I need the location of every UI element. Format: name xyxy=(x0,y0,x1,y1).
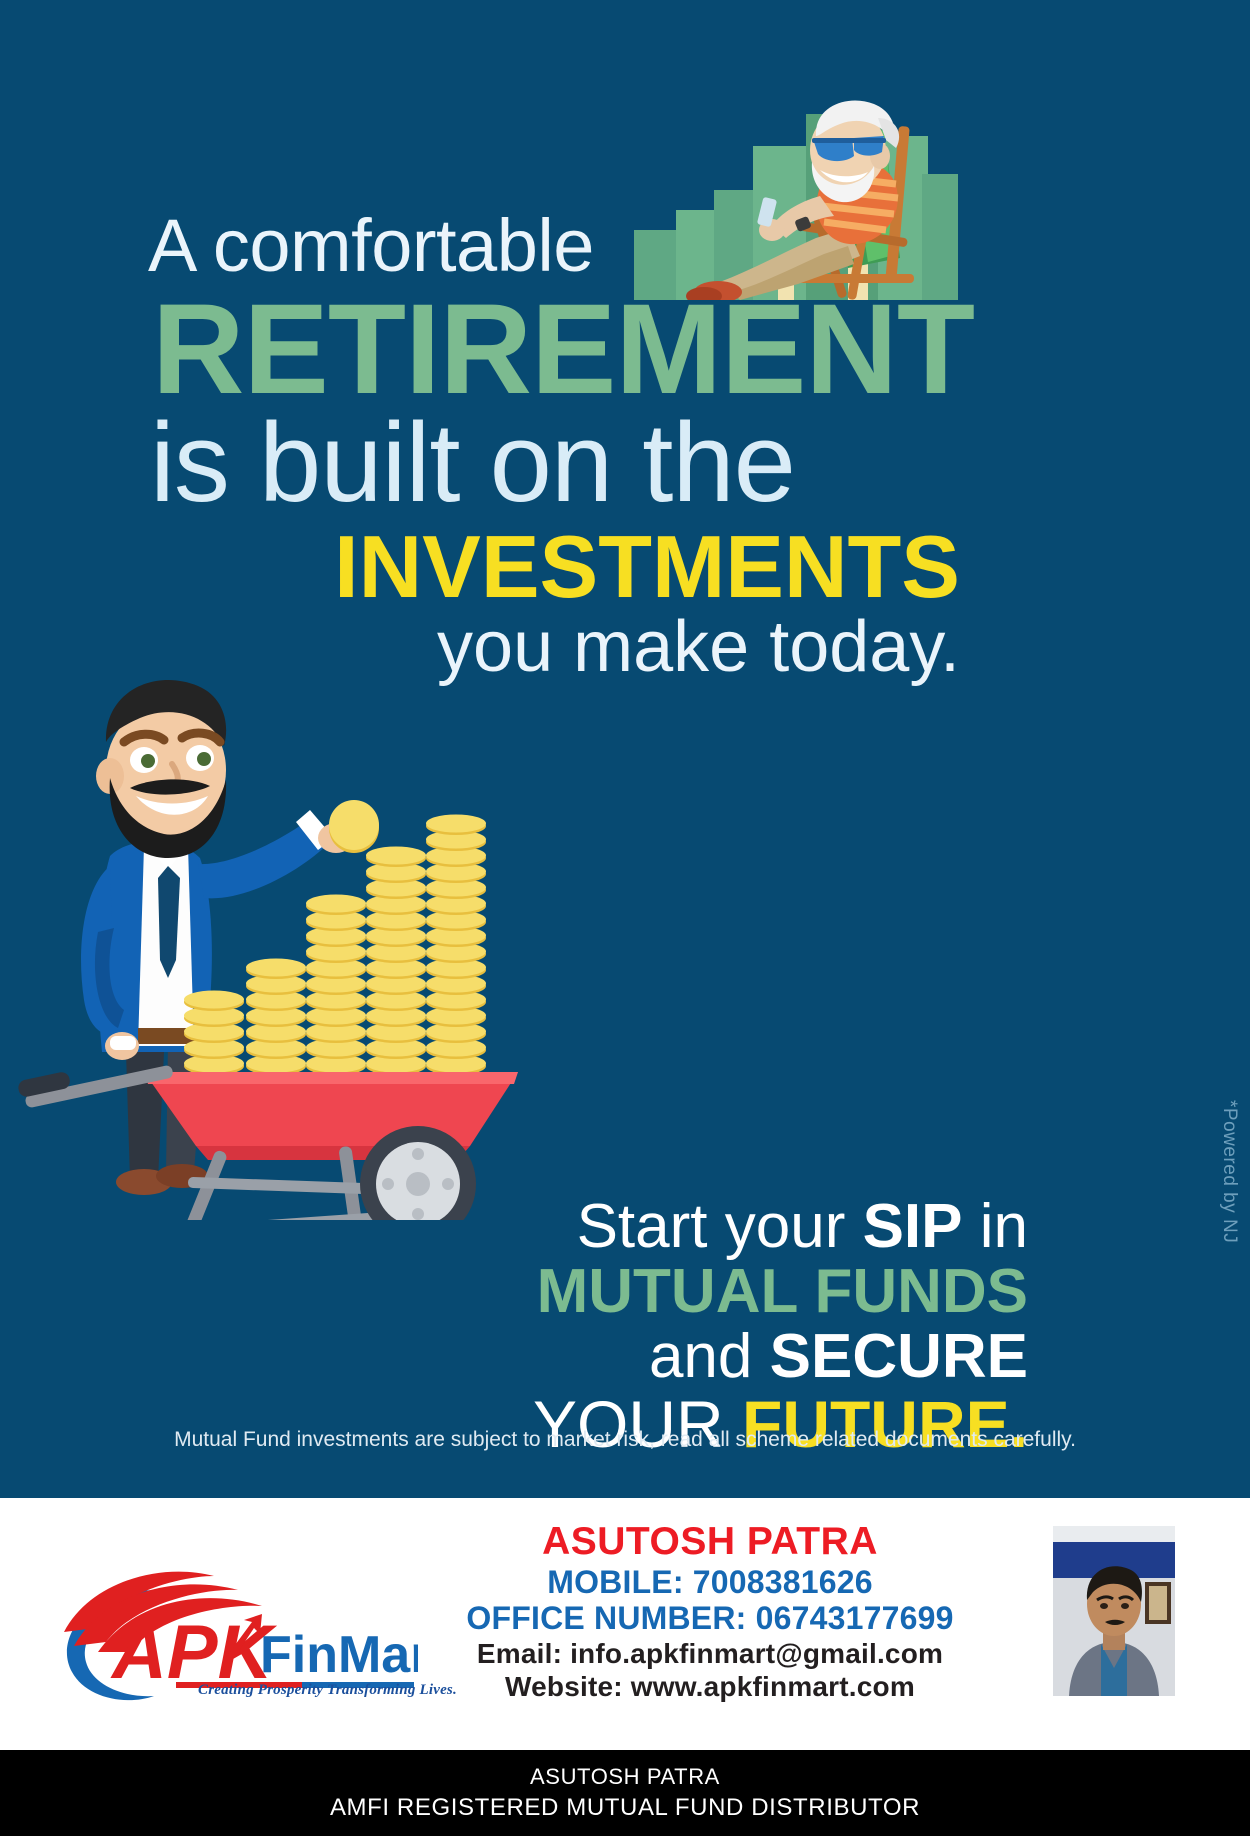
cta-line-1-pre: Start your xyxy=(577,1192,863,1261)
cta-line-1: Start your SIP in xyxy=(388,1195,1028,1258)
cta-line-1-post: in xyxy=(963,1192,1028,1261)
bottom-bar-designation: AMFI REGISTERED MUTUAL FUND DISTRIBUTOR xyxy=(330,1792,920,1824)
advisor-name: ASUTOSH PATRA xyxy=(400,1520,1020,1564)
headline-line-2: RETIREMENT xyxy=(0,287,1250,412)
cta-sip-label: SIP xyxy=(863,1192,963,1261)
cta-line-2: MUTUAL FUNDS xyxy=(388,1260,1028,1323)
contact-footer: APK FinMart Creating Prosperity Transfor… xyxy=(0,1498,1250,1750)
email-address[interactable]: Email: info.apkfinmart@gmail.com xyxy=(400,1637,1020,1670)
headline-line-1: A comfortable xyxy=(0,210,1250,283)
office-number[interactable]: OFFICE NUMBER: 06743177699 xyxy=(400,1600,1020,1636)
mobile-number[interactable]: MOBILE: 7008381626 xyxy=(400,1564,1020,1600)
bottom-bar-name: ASUTOSH PATRA xyxy=(530,1762,720,1792)
headline-block: A comfortable RETIREMENT is built on the… xyxy=(0,210,1250,682)
cta-block: Start your SIP in MUTUAL FUNDS and SECUR… xyxy=(388,1195,1028,1458)
cta-secure-label: SECURE xyxy=(770,1322,1028,1391)
advisor-photo xyxy=(1053,1526,1175,1696)
businessman-head xyxy=(96,680,226,858)
contact-details: ASUTOSH PATRA MOBILE: 7008381626 OFFICE … xyxy=(400,1520,1020,1703)
poster: A comfortable RETIREMENT is built on the… xyxy=(0,0,1250,1836)
headline-line-4: INVESTMENTS xyxy=(0,524,1250,610)
cta-line-3: and SECURE xyxy=(388,1325,1028,1388)
powered-by-label: *Powered by NJ xyxy=(1218,1100,1240,1243)
website-url[interactable]: Website: www.apkfinmart.com xyxy=(400,1670,1020,1703)
logo-finmart-text: FinMart xyxy=(260,1626,418,1684)
cta-line-3-pre: and xyxy=(649,1322,770,1391)
coin-stacks xyxy=(184,815,486,1076)
disclaimer-text: Mutual Fund investments are subject to m… xyxy=(0,1428,1250,1452)
headline-line-5: you make today. xyxy=(0,612,1250,683)
registration-bar: ASUTOSH PATRA AMFI REGISTERED MUTUAL FUN… xyxy=(0,1750,1250,1836)
hero-panel: A comfortable RETIREMENT is built on the… xyxy=(0,0,1250,1498)
headline-line-3: is built on the xyxy=(0,408,1250,518)
apk-finmart-logo: APK FinMart Creating Prosperity Transfor… xyxy=(38,1536,418,1716)
businessman-wheelbarrow-illustration xyxy=(18,660,548,1220)
